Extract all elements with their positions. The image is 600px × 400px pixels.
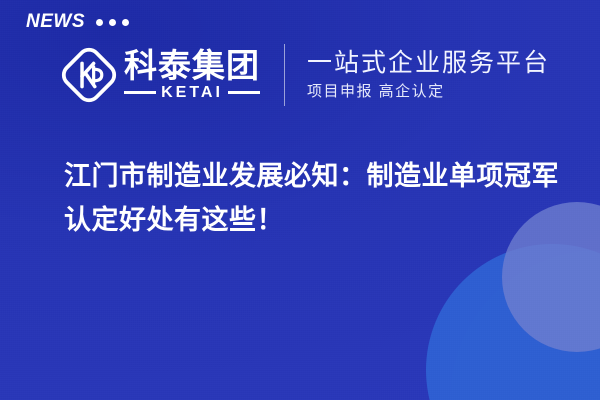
eyebrow-dot (109, 19, 116, 26)
brand-row: 科泰集团 KETAI 一站式企业服务平台 项目申报 高企认定 (60, 42, 550, 108)
eyebrow-dot (96, 19, 103, 26)
ketai-diamond-kt-logo-icon (60, 46, 118, 104)
headline: 江门市制造业发展必知：制造业单项冠军认定好处有这些！ (64, 155, 564, 242)
slogan-main: 一站式企业服务平台 (307, 49, 550, 79)
eyebrow-label: NEWS (26, 12, 85, 31)
brand-name-cn: 科泰集团 (124, 49, 260, 83)
brand-divider (284, 44, 285, 106)
slogan-block: 一站式企业服务平台 项目申报 高企认定 (307, 49, 550, 102)
brand-name-en: KETAI (161, 85, 223, 101)
wordmark-rule-left (124, 91, 156, 94)
decorative-circle-bright (426, 244, 600, 400)
news-banner: NEWS 科泰集团 KETAI (0, 0, 600, 400)
eyebrow-dots-icon (96, 19, 129, 26)
eyebrow-dot (122, 19, 129, 26)
eyebrow: NEWS (26, 12, 129, 31)
decorative-circle-deep (450, 250, 600, 400)
wordmark-rule-right (228, 91, 260, 94)
brand-name-en-row: KETAI (124, 85, 260, 101)
brand-wordmark: 科泰集团 KETAI (124, 49, 260, 101)
slogan-sub: 项目申报 高企认定 (307, 83, 550, 101)
